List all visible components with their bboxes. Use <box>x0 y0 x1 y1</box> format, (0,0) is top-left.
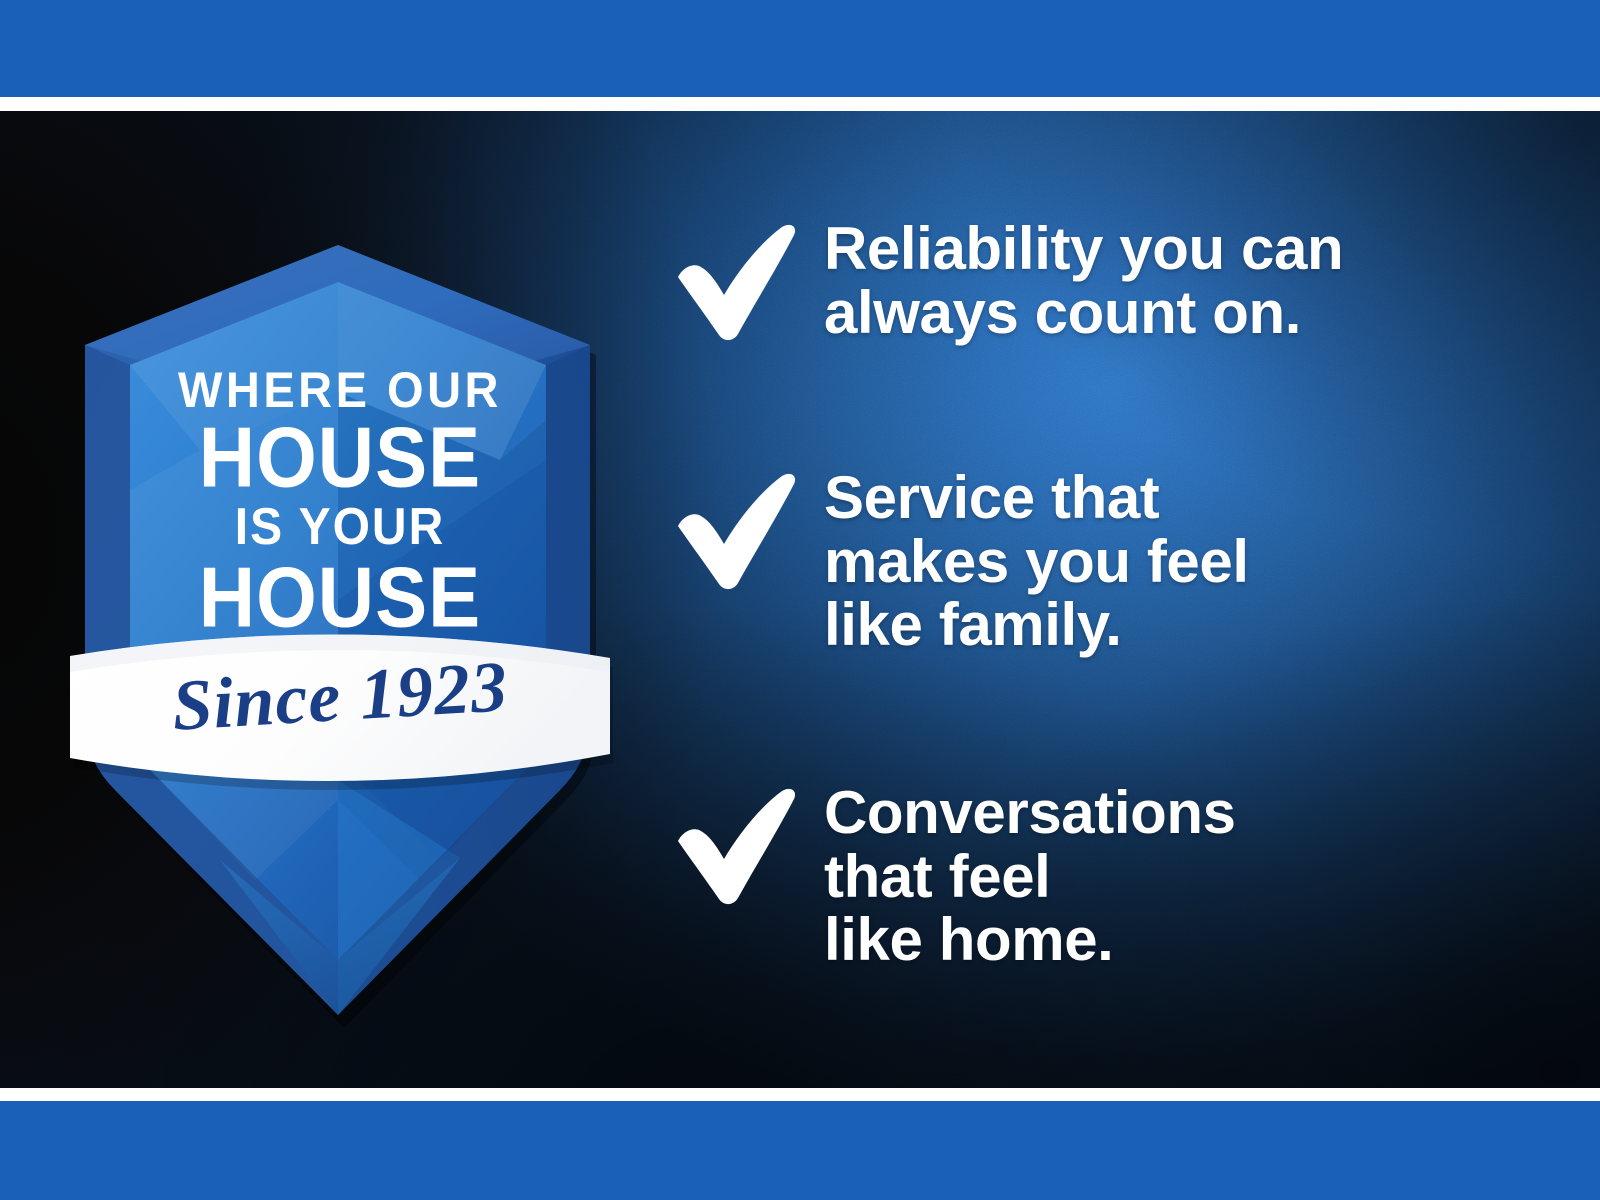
benefit-text: Conversations that feel like home. <box>824 781 1552 972</box>
top-white-divider <box>0 97 1600 111</box>
check-icon <box>672 223 802 341</box>
benefit-item: Service that makes you feel like family. <box>672 466 1552 657</box>
benefit-text: Service that makes you feel like family. <box>824 466 1552 657</box>
top-brand-bar <box>0 0 1600 97</box>
shield-ribbon <box>70 634 613 790</box>
shield-graphic <box>60 160 620 840</box>
benefits-list: Reliability you can always count on. Ser… <box>672 111 1552 1088</box>
bottom-white-divider <box>0 1088 1600 1101</box>
bottom-brand-bar <box>0 1101 1600 1200</box>
benefit-item: Conversations that feel like home. <box>672 781 1552 972</box>
benefit-text: Reliability you can always count on. <box>824 217 1552 344</box>
promo-graphic-canvas: WHERE OUR HOUSE IS YOUR HOUSE Since 1923… <box>0 0 1600 1200</box>
brand-shield-badge: WHERE OUR HOUSE IS YOUR HOUSE Since 1923 <box>60 160 620 840</box>
check-icon <box>672 787 802 905</box>
benefit-item: Reliability you can always count on. <box>672 217 1552 344</box>
check-icon <box>672 472 802 590</box>
